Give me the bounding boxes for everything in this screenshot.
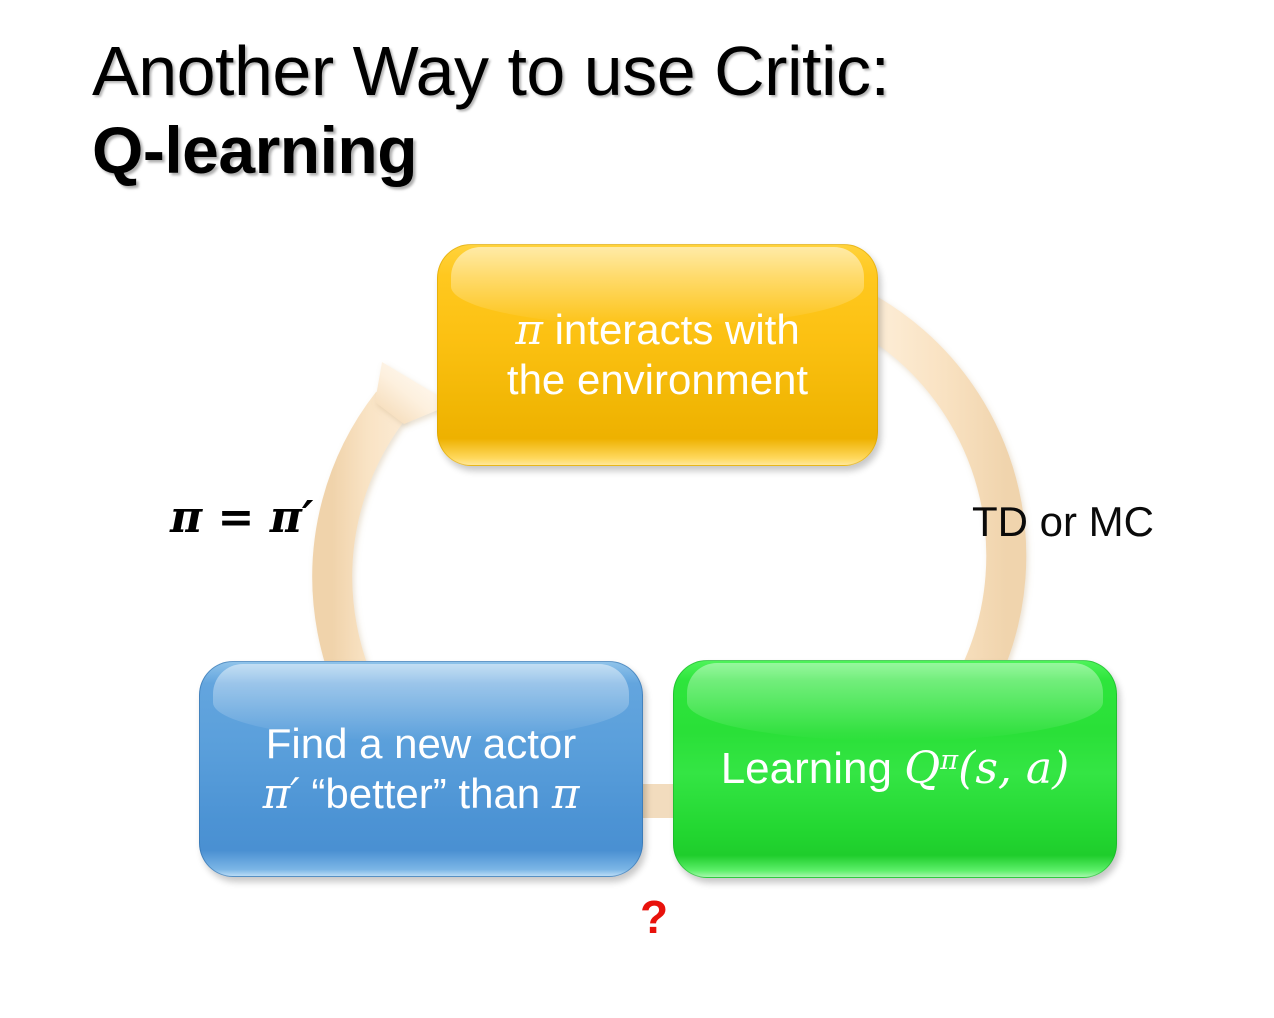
q-arguments: (s, a) [958,743,1069,794]
pi-prime-symbol: π′ [263,769,300,818]
node-green-prefix: Learning [721,744,904,793]
question-mark-label: ? [640,890,668,944]
page-title: Another Way to use Critic: Q-learning [92,34,1192,186]
pi-symbol: π [552,769,580,818]
td-or-mc-label: TD or MC [972,498,1154,546]
node-yellow-line1-rest: interacts with [543,306,800,353]
node-yellow-text: π interacts with the environment [489,305,826,404]
q-symbol: Q [904,743,940,794]
pi-superscript: π [940,745,958,776]
node-blue-line2-mid: “better” than [300,770,552,817]
node-yellow-line2: the environment [507,355,808,405]
node-blue-line1: Find a new actor [263,719,580,769]
title-line-1: Another Way to use Critic: [92,34,1192,110]
node-green-text: Learning Qπ(s, a) [703,743,1088,795]
find-new-actor-box[interactable]: Find a new actor π′ “better” than π [199,661,643,877]
learning-q-box[interactable]: Learning Qπ(s, a) [673,660,1117,878]
pi-equals-pi-prime-label: π = π′ [170,492,314,543]
pi-interacts-with-environment-box[interactable]: π interacts with the environment [437,244,878,466]
title-line-2: Q-learning [92,114,1192,187]
node-blue-text: Find a new actor π′ “better” than π [245,719,598,818]
gloss-highlight [687,663,1102,741]
pi-symbol: π [515,305,543,354]
